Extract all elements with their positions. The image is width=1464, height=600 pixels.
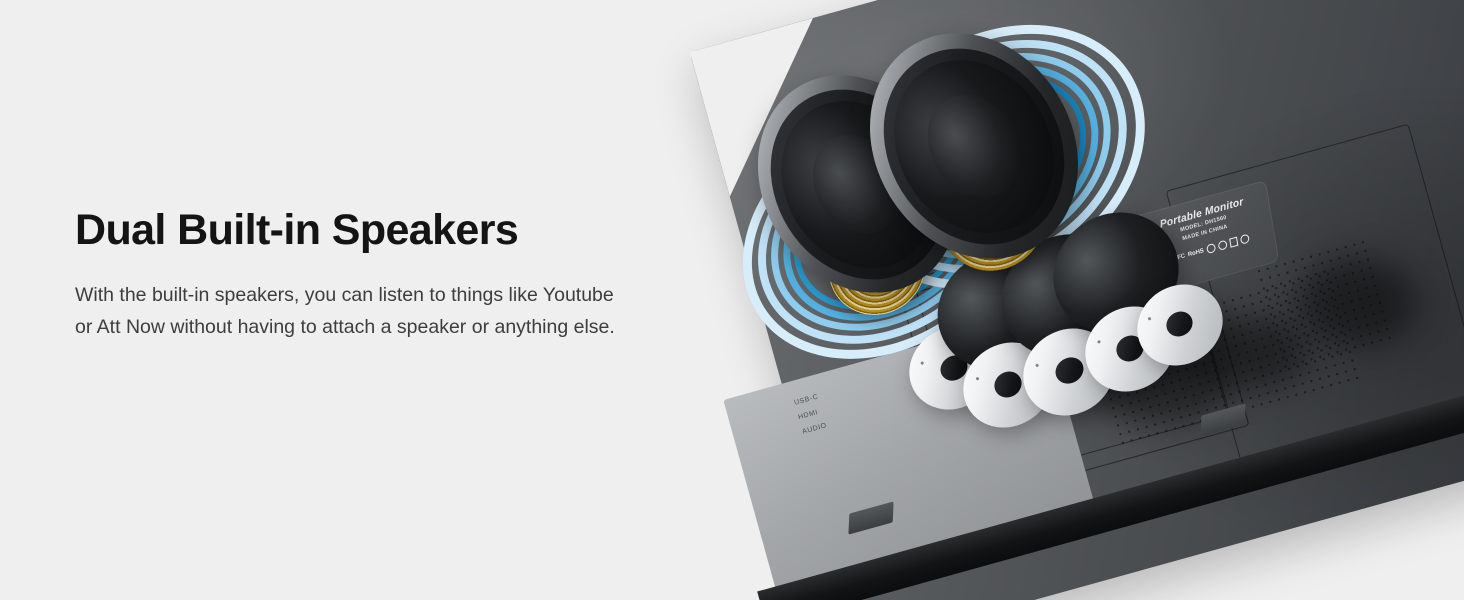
- rohs-icon: RoHS: [1187, 247, 1204, 259]
- ce-mark-icon: [1240, 234, 1250, 245]
- copy-block: Dual Built-in Speakers With the built-in…: [75, 206, 675, 343]
- product-image: USB-C HDMI AUDIO Portable Monitor MODEL:…: [700, 0, 1464, 600]
- body-text: With the built-in speakers, you can list…: [75, 254, 635, 343]
- wheelie-bin-icon: [1217, 240, 1227, 251]
- headline: Dual Built-in Speakers: [75, 206, 675, 254]
- triman-icon: [1229, 237, 1238, 248]
- recycle-icon: [1206, 243, 1216, 254]
- product-feature-banner: Dual Built-in Speakers With the built-in…: [0, 0, 1464, 600]
